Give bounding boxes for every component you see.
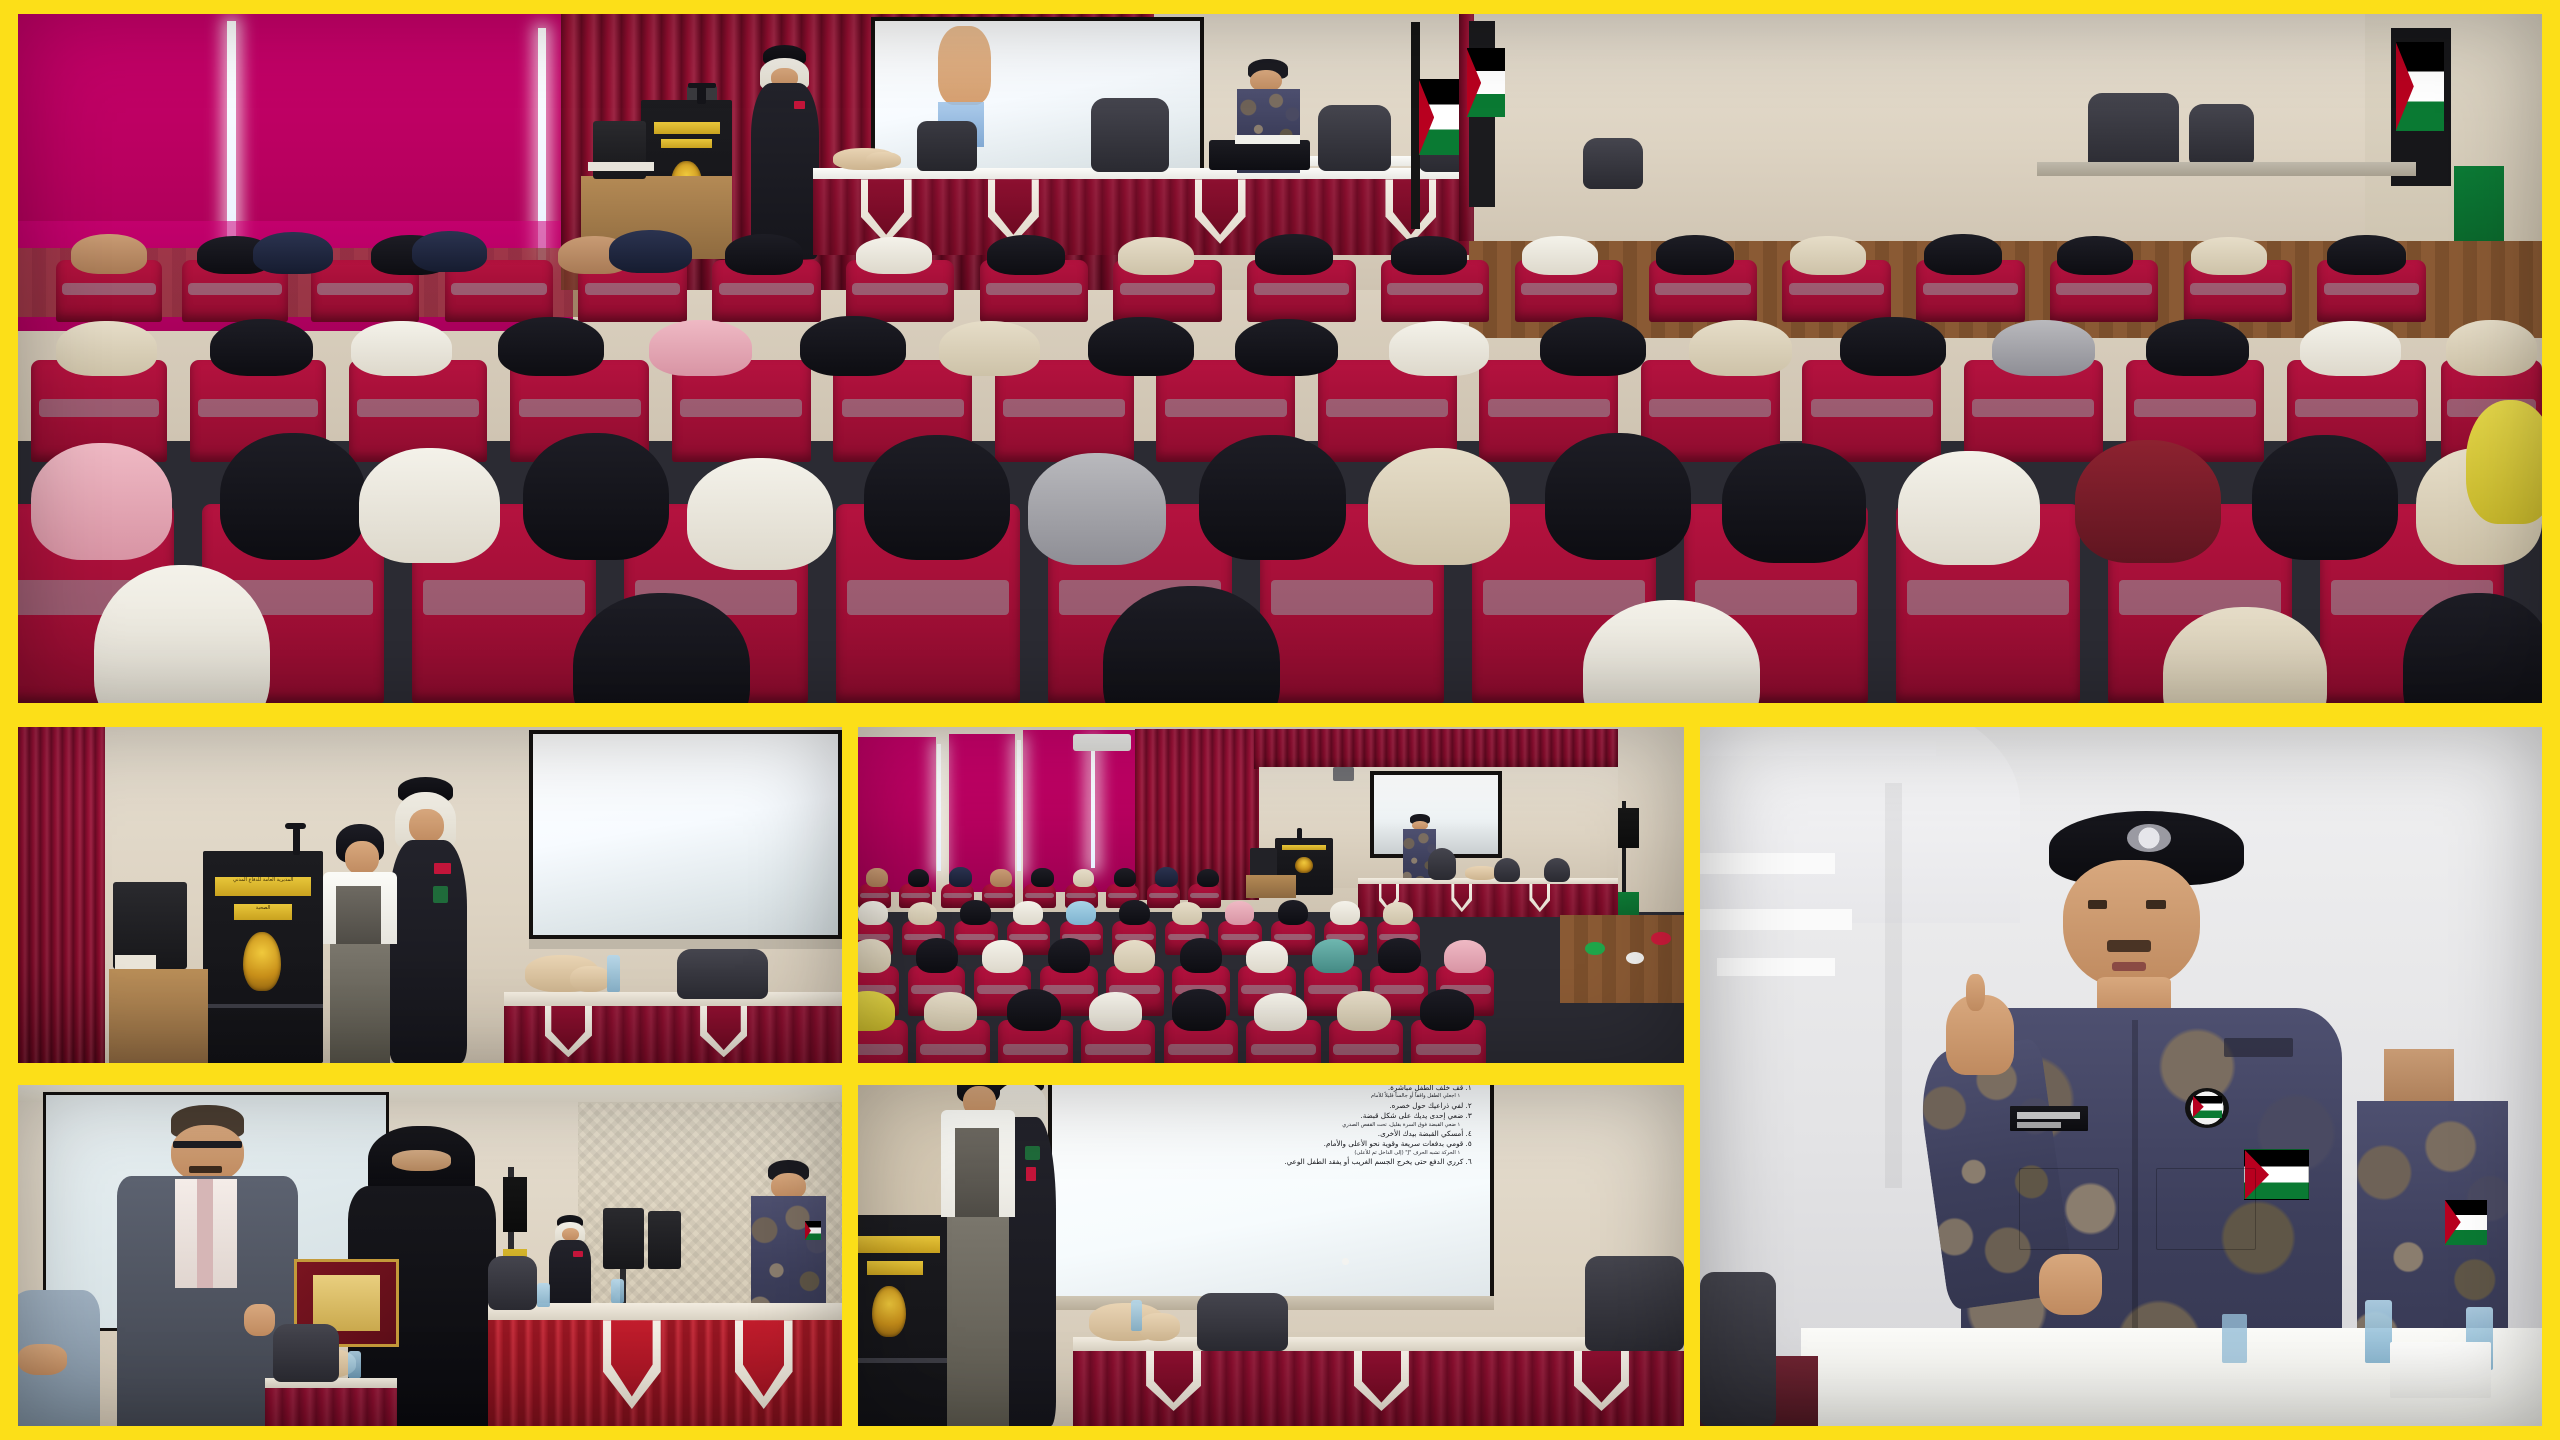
- slide-step-4: ٤. أمسكي القبضة بيدك الأخرى.: [1070, 1129, 1471, 1139]
- projection-screen: ١. قف خلف الطفل مباشرة.١ اجعلي الطفل واق…: [1048, 1085, 1494, 1303]
- schoolgirl: [941, 1085, 1015, 1426]
- tissue-box: [2390, 1342, 2491, 1398]
- seated-officer-background: [549, 1215, 590, 1310]
- head-table-skirt: [504, 1006, 842, 1063]
- standing-officer: [750, 45, 821, 259]
- slide-step-6: ٦. كرري الدفع حتى يخرج الجسم الغريب أو ي…: [1070, 1157, 1471, 1167]
- slide-step-1-sub-1: ١ اجعلي الطفل واقفاً أو جالساً قليلاً لل…: [1070, 1093, 1471, 1101]
- projection-screen: [1370, 771, 1502, 858]
- podium: المديرية العامة للدفاع المدني الصحية: [203, 851, 322, 1063]
- slide-step-1: ١. قف خلف الطفل مباشرة.: [1070, 1085, 1471, 1093]
- royal-crest: [243, 932, 281, 991]
- podium-plate-line1: المديرية العامة للدفاع المدني: [215, 878, 311, 883]
- slide-steps-photo: ١. قف خلف الطفل مباشرة.١ اجعلي الطفل واق…: [858, 1085, 1684, 1426]
- projection-screen: [529, 730, 842, 938]
- slide-step-5: ٥. قومي بدفعات سريعة وقوية نحو الأعلى وا…: [1070, 1139, 1471, 1149]
- lecture-hall-wide-photo: [858, 727, 1684, 1063]
- slide-content: ١. قف خلف الطفل مباشرة.١ اجعلي الطفل واق…: [1070, 1085, 1471, 1245]
- slide-step-3-sub-1: ١ ضعي القبضة فوق السرة بقليل، تحت القفص …: [1070, 1122, 1471, 1130]
- photo-collage: المديرية العامة للدفاع المدني الصحية: [0, 0, 2560, 1440]
- podium: [858, 1215, 949, 1426]
- slide-step-3: ٣. ضعي إحدى يديك على شكل قبضة.: [1070, 1111, 1471, 1121]
- hero-auditorium-photo: [18, 14, 2542, 703]
- lower-fist: [2039, 1254, 2102, 1316]
- slide-step-2: ٢. لفي ذراعيك حول خصره.: [1070, 1101, 1471, 1111]
- demonstrating-officer: [389, 777, 467, 1063]
- water-bottle: [2365, 1300, 2392, 1363]
- head-table-skirt: [1073, 1351, 1684, 1426]
- officer-portrait-photo: [1700, 727, 2542, 1426]
- award-plaque-photo: ٢٠٢٥ ورشة تدريبية الإسعافات الأولية: [18, 1085, 842, 1426]
- podium-plate-line2: الصحية: [234, 906, 291, 911]
- schoolgirl: [323, 824, 397, 1063]
- choking-demo-photo: المديرية العامة للدفاع المدني الصحية: [18, 727, 842, 1063]
- beret-badge: [2127, 824, 2171, 852]
